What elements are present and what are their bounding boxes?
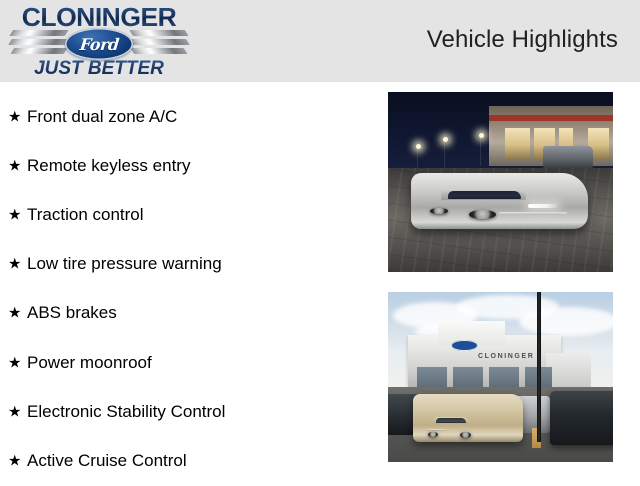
day-scene: CLONINGER [388, 292, 613, 462]
dealer-logo[interactable]: CLONINGER Ford JUST BETTER [4, 2, 194, 80]
vehicle-photo-night[interactable] [388, 92, 613, 272]
star-bullet-icon: ★ [8, 453, 21, 468]
list-item-label: Low tire pressure warning [27, 254, 222, 274]
list-item: ★ Traction control [0, 190, 380, 239]
gold-suv [413, 394, 523, 442]
list-item: ★ Low tire pressure warning [0, 240, 380, 289]
star-bullet-icon: ★ [8, 158, 21, 173]
building-accent-stripe [489, 115, 613, 120]
list-item-label: ABS brakes [27, 303, 117, 323]
list-item: ★ ABS brakes [0, 289, 380, 338]
dealership-photo-day[interactable]: CLONINGER [388, 292, 613, 462]
suv-grille [427, 429, 446, 431]
star-bullet-icon: ★ [8, 207, 21, 222]
showroom-window [453, 367, 482, 389]
star-bullet-icon: ★ [8, 109, 21, 124]
list-item-label: Traction control [27, 205, 144, 225]
dealer-tagline: JUST BETTER [4, 58, 194, 80]
list-item-label: Active Cruise Control [27, 451, 187, 471]
chrome-wing-left-icon [10, 30, 68, 56]
list-item: ★ Electronic Stability Control [0, 387, 380, 436]
suv-windows [436, 418, 466, 423]
sedan-windows [448, 191, 521, 199]
rear-wheel [428, 432, 438, 438]
header-band: CLONINGER Ford JUST BETTER Vehicle Highl… [0, 0, 640, 82]
chrome-wing-right-icon [130, 30, 188, 56]
light-pole [417, 146, 418, 169]
list-item-label: Power moonroof [27, 353, 152, 373]
showroom-window [489, 367, 518, 389]
star-bullet-icon: ★ [8, 306, 21, 321]
list-item: ★ Power moonroof [0, 338, 380, 387]
front-wheel [460, 432, 471, 438]
headlight [528, 204, 558, 208]
ford-oval-icon: Ford [65, 28, 133, 60]
list-item: ★ Remote keyless entry [0, 141, 380, 190]
page-title: Vehicle Highlights [427, 26, 618, 54]
list-item: ★ Active Cruise Control [0, 436, 380, 485]
night-scene [388, 92, 613, 272]
star-bullet-icon: ★ [8, 404, 21, 419]
vehicle-highlights-list: ★ Front dual zone A/C ★ Remote keyless e… [0, 92, 380, 486]
light-pole [537, 292, 542, 442]
list-item-label: Front dual zone A/C [27, 107, 177, 127]
lot-vehicle-dark-truck [550, 391, 613, 445]
dealer-wordmark: CLONINGER [2, 3, 196, 31]
showroom-window [505, 128, 530, 159]
dealership-sign-text: CLONINGER [478, 353, 534, 360]
parking-lot-light-icon [443, 137, 448, 142]
list-item-label: Remote keyless entry [27, 156, 190, 176]
list-item-label: Electronic Stability Control [27, 402, 225, 422]
rear-wheel [430, 208, 448, 215]
showroom-window [417, 367, 446, 389]
light-pole [444, 139, 445, 168]
building-wing [546, 353, 591, 389]
light-pole [480, 135, 481, 166]
star-bullet-icon: ★ [8, 355, 21, 370]
background-vehicle [543, 146, 593, 168]
star-bullet-icon: ★ [8, 257, 21, 272]
ford-emblem-group: Ford [4, 28, 194, 60]
front-wheel [469, 210, 496, 219]
ford-oval-label: Ford [79, 35, 120, 54]
silver-sedan [411, 173, 589, 229]
list-item: ★ Front dual zone A/C [0, 92, 380, 141]
front-bumper [499, 212, 567, 215]
